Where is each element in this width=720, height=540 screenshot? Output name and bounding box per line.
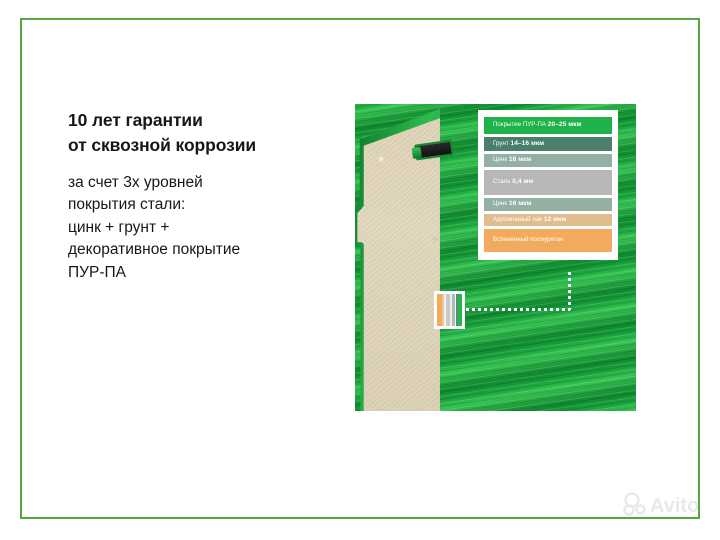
layer-row: Цинк 16 мкм [484,198,612,211]
layer-label: Адгезионный лак 12 мкм [493,217,566,224]
slide-canvas: 10 лет гарантии от сквозной коррозии за … [0,0,720,540]
layer-label: Цинк 16 мкм [493,157,531,164]
text-block: 10 лет гарантии от сквозной коррозии за … [68,108,318,284]
subtext-line: за счет 3х уровней [68,172,318,194]
subtext-paragraph: за счет 3х уровней покрытия стали: цинк … [68,172,318,284]
subtext-line: цинк + грунт + [68,217,318,239]
layer-stack-swatch [434,291,465,329]
layer-row: Покрытие ПУР-ПА 20–25 мкм [484,117,612,134]
layer-row: Цинк 16 мкм [484,154,612,167]
layer-legend-panel: Покрытие ПУР-ПА 20–25 мкмГрунт 14–16 мкм… [478,110,618,260]
layer-thickness: 12 мкм [544,216,567,223]
subtext-line: покрытия стали: [68,194,318,216]
leader-line-horizontal [466,308,570,311]
layer-row: Вспененный полиуретан [484,229,612,252]
layer-label: Цинк 16 мкм [493,201,531,208]
layer-thickness: 16 мкм [509,200,532,207]
headline-line-2: от сквозной коррозии [68,133,318,158]
subtext-line: декоративное покрытие [68,239,318,261]
leader-line-vertical [568,272,571,310]
layer-row: Грунт 14–16 мкм [484,137,612,151]
layer-label: Грунт 14–16 мкм [493,141,544,148]
layer-row: Адгезионный лак 12 мкм [484,214,612,226]
layer-thickness: 20–25 мкм [548,121,582,128]
layer-thickness: 0,4 мм [512,178,533,185]
layer-thickness: 16 мкм [509,156,532,163]
subtext-line: ПУР-ПА [68,262,318,284]
layer-label: Вспененный полиуретан [493,237,563,243]
layer-row: Сталь 0,4 мм [484,170,612,195]
headline-line-1: 10 лет гарантии [68,108,318,133]
layer-thickness: 14–16 мкм [510,140,544,147]
layer-label: Сталь 0,4 мм [493,179,533,186]
layer-label: Покрытие ПУР-ПА 20–25 мкм [493,122,581,129]
swatch-band [458,294,462,326]
